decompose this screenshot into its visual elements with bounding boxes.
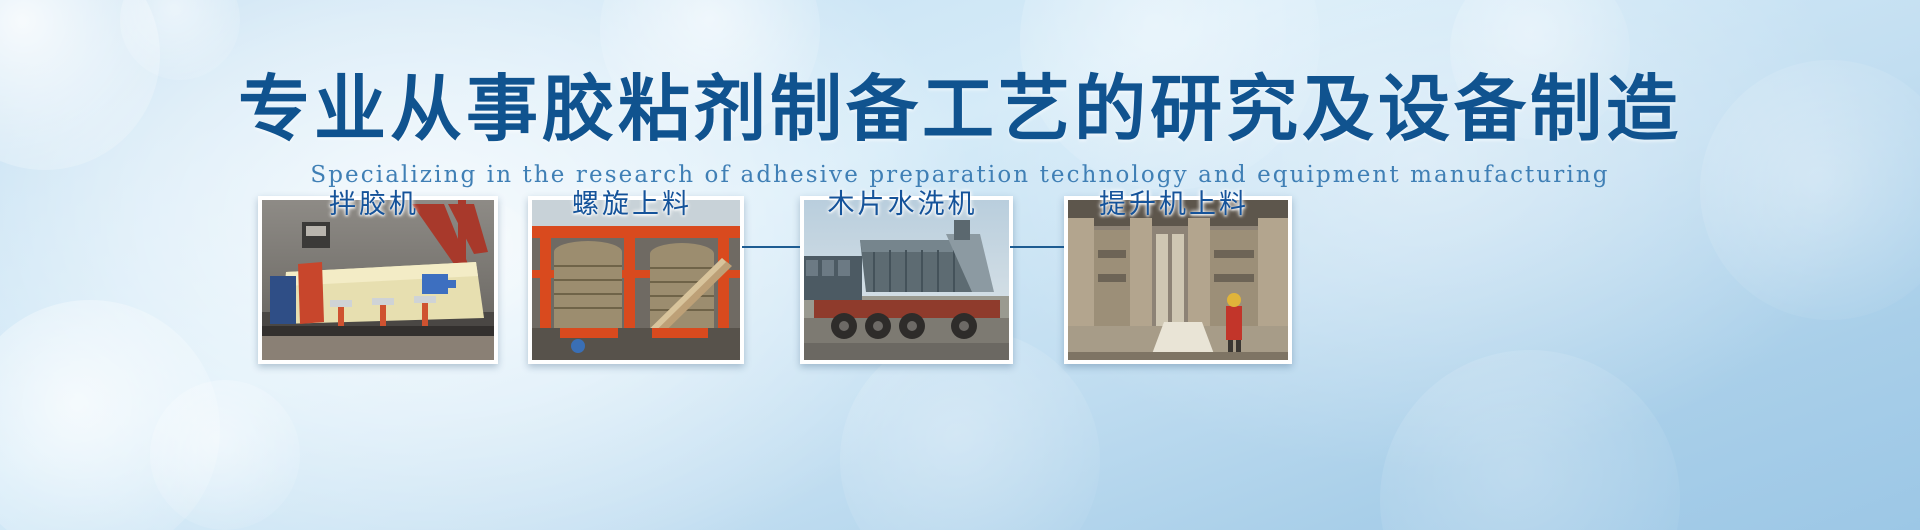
wood-chip-washing-machine-photo [804,200,1009,360]
product-card-4[interactable] [1064,196,1292,364]
product-card-1[interactable] [258,196,498,364]
glue-mixer-machine-photo [262,200,494,360]
product-photo-strip [0,196,1920,376]
promotional-banner: 专业从事胶粘剂制备工艺的研究及设备制造 Specializing in the … [0,0,1920,530]
flow-connector-line-1 [742,246,800,248]
bokeh-circle [150,380,300,530]
bokeh-circle [1380,350,1680,530]
product-caption-4: 提升机上料 [1060,182,1288,221]
screw-conveyor-feeding-photo [532,200,740,360]
elevator-feeding-photo [1068,200,1288,360]
product-caption-1: 拌胶机 [258,182,490,221]
product-card-3[interactable] [800,196,1013,364]
banner-headline: 专业从事胶粘剂制备工艺的研究及设备制造 [0,50,1920,155]
product-caption-3: 木片水洗机 [790,182,1015,221]
product-card-2[interactable] [528,196,744,364]
product-caption-2: 螺旋上料 [528,182,736,221]
flow-connector-line-2 [1010,246,1064,248]
